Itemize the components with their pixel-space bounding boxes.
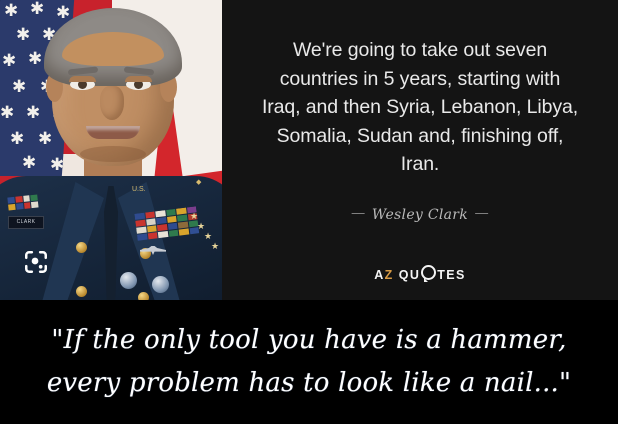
azquotes-logo[interactable]: AZQUTES [240, 265, 600, 282]
bottom-caption-banner: "If the only tool you have is a hammer, … [0, 300, 618, 424]
quote-text-panel: We're going to take out seven countries … [222, 0, 618, 300]
uniform-button [138, 292, 149, 300]
logo-quotes-first: QU [399, 268, 421, 282]
unit-badge [152, 276, 169, 293]
quote-attribution: —Wesley Clark— [240, 205, 600, 223]
quote-card[interactable]: ✱ ✱ ✱ ✱ ✱ ✱ ✱ ✱ ✱ ✱ ✱ ✱ ✱ ✱ ✱ ✱ ✱ [0, 0, 618, 300]
shoulder-patch: ◆ [196, 178, 201, 186]
quote-body: We're going to take out seven countries … [240, 36, 600, 179]
unit-badge [120, 272, 137, 289]
uniform-button [76, 242, 87, 253]
hair [44, 8, 182, 86]
rank-star: ★ [204, 232, 212, 241]
attribution-dash-right: — [468, 205, 495, 220]
chin-shadow [80, 146, 146, 162]
rank-star: ★ [211, 242, 219, 251]
logo-letter-a: A [374, 268, 384, 282]
mouth [86, 126, 140, 139]
caption-line-1: "If the only tool you have is a hammer, [51, 319, 566, 362]
portrait-photo[interactable]: ✱ ✱ ✱ ✱ ✱ ✱ ✱ ✱ ✱ ✱ ✱ ✱ ✱ ✱ ✱ ✱ ✱ [0, 0, 222, 300]
screenshot-root: ✱ ✱ ✱ ✱ ✱ ✱ ✱ ✱ ✱ ✱ ✱ ✱ ✱ ✱ ✱ ✱ ✱ [0, 0, 618, 424]
speech-bubble-icon [421, 265, 436, 280]
nose [100, 86, 124, 120]
attribution-name: Wesley Clark [372, 207, 468, 223]
uniform-nameplate: CLARK [8, 216, 44, 229]
logo-letter-z: Z [385, 268, 394, 282]
logo-quotes-last: TES [437, 268, 466, 282]
collar-insignia: U.S. [132, 186, 146, 193]
google-lens-icon[interactable] [22, 248, 50, 276]
uniform-button [76, 286, 87, 297]
eyelid-left [69, 76, 96, 82]
caption-line-2: every problem has to look like a nail...… [47, 362, 571, 405]
eyelid-right [125, 76, 152, 82]
rank-star: ★ [197, 222, 205, 231]
rank-star: ★ [190, 212, 198, 221]
attribution-dash-left: — [345, 205, 372, 220]
